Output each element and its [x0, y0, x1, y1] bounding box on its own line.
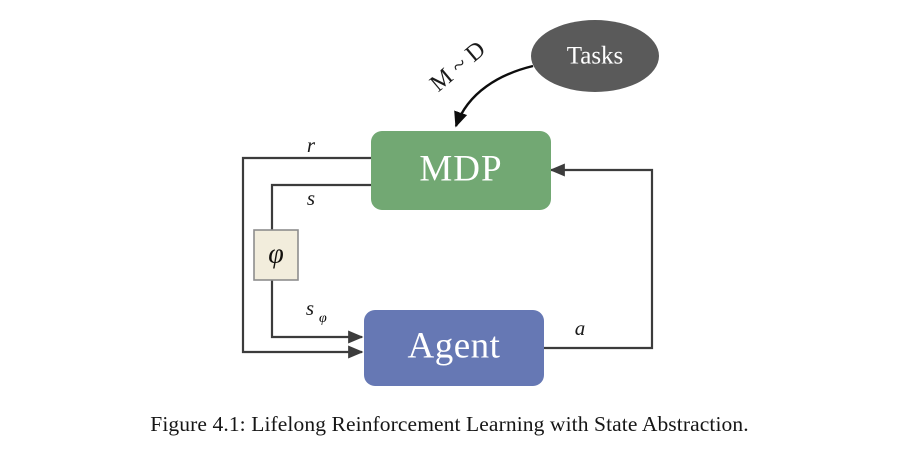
node-abstraction[interactable]: φ — [254, 230, 298, 280]
node-tasks-label: Tasks — [567, 43, 624, 70]
node-abstraction-label: φ — [268, 238, 284, 269]
figure-caption: Figure 4.1: Lifelong Reinforcement Learn… — [0, 412, 899, 437]
edge-sampling-label: M ~ D — [425, 36, 490, 97]
node-agent-label: Agent — [408, 325, 501, 366]
diagram-canvas: MDP Agent Tasks φ r s s φ a M ~ D — [0, 0, 899, 467]
node-tasks[interactable]: Tasks — [531, 20, 659, 92]
node-agent[interactable]: Agent — [364, 310, 544, 386]
figure-container: MDP Agent Tasks φ r s s φ a M ~ D Figure — [0, 0, 899, 467]
edge-action-label: a — [575, 316, 586, 340]
edge-abstract-state-path — [272, 310, 362, 337]
edge-reward-label: r — [307, 133, 316, 157]
edge-state-label: s — [307, 186, 315, 210]
edge-abstract-state-subscript: φ — [319, 311, 327, 326]
node-mdp[interactable]: MDP — [371, 131, 551, 210]
node-mdp-label: MDP — [419, 148, 502, 189]
edge-action-path — [544, 170, 652, 348]
edge-abstract-state-base: s — [306, 296, 314, 320]
edge-abstract-state-label: s φ — [306, 296, 327, 326]
edge-sampling-label-text: M ~ D — [425, 36, 490, 97]
